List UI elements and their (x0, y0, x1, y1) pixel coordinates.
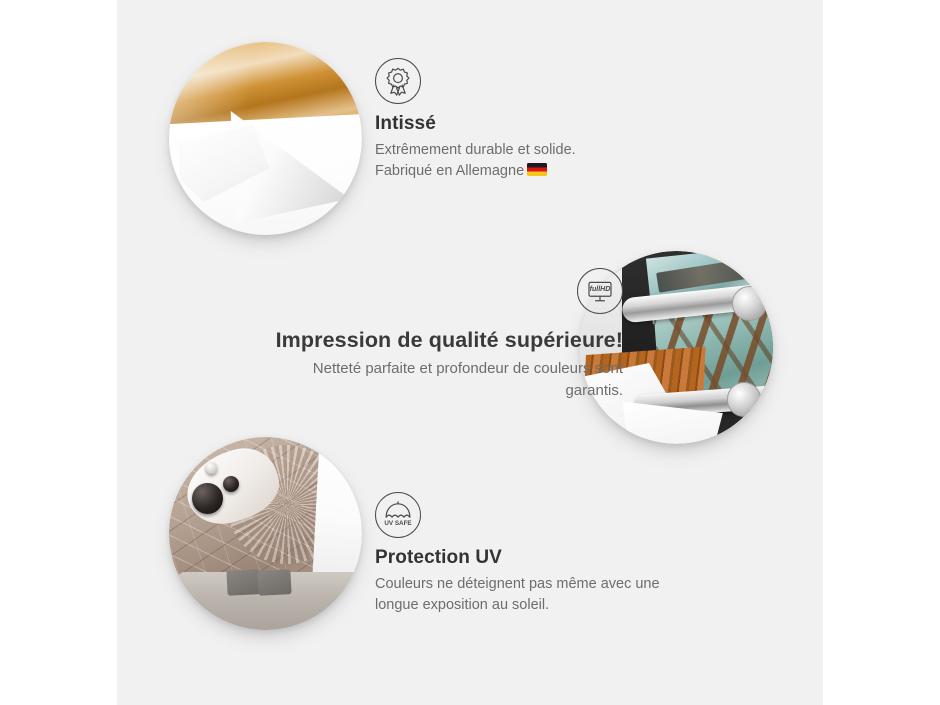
living-room-interior-photo (169, 437, 362, 630)
feature-description: Couleurs ne déteignent pas même avec une… (375, 574, 720, 617)
roller-cap-lower (727, 382, 762, 417)
pendant-lamp-white (206, 462, 218, 474)
svg-text:UV SAFE: UV SAFE (384, 520, 411, 527)
cushion-left (226, 569, 260, 596)
svg-text:fullHD: fullHD (590, 286, 611, 293)
feature-block-print-quality: fullHD Impression de qualité supérieure!… (183, 268, 623, 402)
feature-title: Intissé (375, 113, 705, 135)
wallpaper-peel-photo (169, 42, 362, 235)
fullhd-monitor-icon: fullHD (577, 268, 623, 314)
product-feature-infographic: Intissé Extrêmement durable et solide. F… (0, 0, 940, 705)
description-line-1: Extrêmement durable et solide. (375, 142, 576, 158)
feature-title: Protection UV (375, 547, 720, 569)
description-line-2: longue exposition au soleil. (375, 597, 549, 613)
feature-description: Netteté parfaite et profondeur de couleu… (183, 358, 623, 402)
icon-row (375, 58, 705, 104)
content-panel: Intissé Extrêmement durable et solide. F… (117, 0, 823, 705)
pendant-lamp-large (192, 483, 223, 514)
feature-description: Extrêmement durable et solide. Fabriqué … (375, 140, 705, 183)
window (312, 437, 362, 584)
roller-cap-upper (732, 286, 767, 321)
award-rosette-icon (375, 58, 421, 104)
uv-safe-umbrella-icon: UV SAFE (375, 492, 421, 538)
description-line-2: Fabriqué en Allemagne (375, 163, 524, 179)
icon-row: UV SAFE (375, 492, 720, 538)
feature-block-nonwoven: Intissé Extrêmement durable et solide. F… (375, 58, 705, 183)
description-line-2: garantis. (565, 382, 623, 399)
feature-title: Impression de qualité supérieure! (183, 328, 623, 353)
feature-block-uv-protection: UV SAFE Protection UV Couleurs ne déteig… (375, 492, 720, 617)
german-flag-icon (527, 163, 547, 176)
cushion-right (257, 569, 291, 596)
description-line-1: Netteté parfaite et profondeur de couleu… (313, 360, 623, 377)
description-line-1: Couleurs ne déteignent pas même avec une (375, 576, 660, 592)
icon-row: fullHD (183, 268, 623, 314)
